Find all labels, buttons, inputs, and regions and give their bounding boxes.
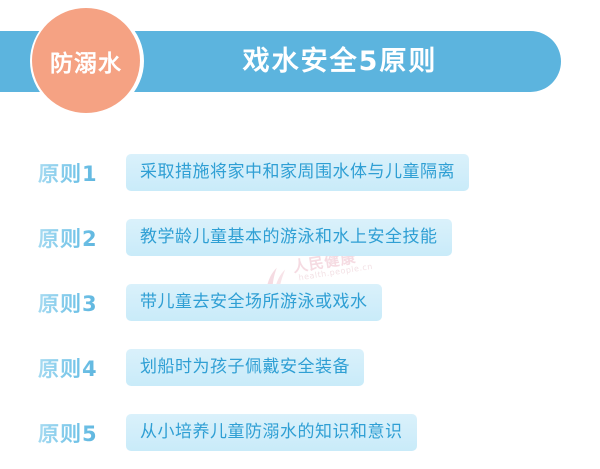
header: 戏水安全5原则 防溺水 (0, 0, 600, 122)
principle-row-1: 原则1 采取措施将家中和家周围水体与儿童隔离 (0, 140, 600, 205)
principle-text-3: 带儿童去安全场所游泳或戏水 (126, 284, 382, 322)
principle-row-4: 原则4 划船时为孩子佩戴安全装备 (0, 335, 600, 400)
principle-label-1: 原则1 (38, 158, 126, 188)
principle-label-3: 原则3 (38, 288, 126, 318)
principle-label-2: 原则2 (38, 223, 126, 253)
principle-text-1: 采取措施将家中和家周围水体与儿童隔离 (126, 154, 469, 192)
principle-text-4: 划船时为孩子佩戴安全装备 (126, 349, 364, 387)
principles-list: 原则1 采取措施将家中和家周围水体与儿童隔离 原则2 教学龄儿童基本的游泳和水上… (0, 140, 600, 465)
topic-badge: 防溺水 (32, 8, 140, 113)
principle-text-2: 教学龄儿童基本的游泳和水上安全技能 (126, 219, 452, 257)
principle-label-5: 原则5 (38, 418, 126, 448)
principle-text-5: 从小培养儿童防溺水的知识和意识 (126, 414, 417, 452)
principle-row-5: 原则5 从小培养儿童防溺水的知识和意识 (0, 400, 600, 465)
principle-row-2: 原则2 教学龄儿童基本的游泳和水上安全技能 (0, 205, 600, 270)
page-title: 戏水安全5原则 (200, 31, 480, 92)
principle-label-4: 原则4 (38, 353, 126, 383)
topic-badge-label: 防溺水 (50, 44, 122, 78)
principle-row-3: 原则3 带儿童去安全场所游泳或戏水 (0, 270, 600, 335)
infographic-poster: 戏水安全5原则 防溺水 人民健康 health.people.cn 原则1 采取… (0, 0, 600, 469)
